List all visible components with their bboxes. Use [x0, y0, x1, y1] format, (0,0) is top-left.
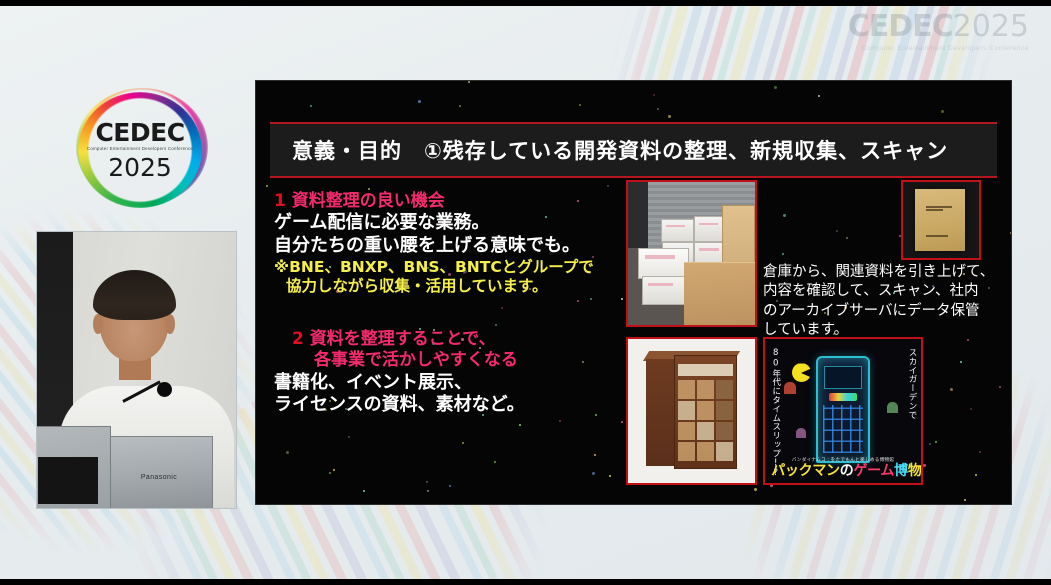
cabinet-screen — [824, 366, 861, 389]
star-speck — [449, 485, 451, 487]
document-sheet — [915, 189, 965, 251]
slide-body-text: 1 資料整理の良い機会 ゲーム配信に必要な業務。 自分たちの重い腰を上げる意味で… — [274, 191, 629, 423]
title-rule-bottom — [270, 176, 997, 178]
cedec-watermark-logo: CEDEC2025 Computer Entertainment Develop… — [848, 12, 1029, 52]
star-speck — [310, 105, 312, 107]
star-speck — [592, 472, 595, 475]
star-speck — [286, 451, 289, 454]
star-speck — [418, 100, 421, 103]
cabinet-maze-art — [823, 405, 862, 452]
text-block-2: 2 資料を整理することで、 各事業で活かしやすくなる 書籍化、イベント展示、 ラ… — [274, 329, 629, 417]
star-speck — [579, 104, 581, 106]
slide-title: 意義・目的 ①残存している開発資料の整理、新規収集、スキャン — [270, 124, 997, 176]
star-speck — [1010, 232, 1012, 234]
speaker-ear-right — [165, 314, 175, 334]
block-2-heading: 資料を整理することで、 — [310, 329, 496, 349]
poster-title-part-6: 館 — [922, 463, 923, 479]
star-speck — [459, 105, 461, 107]
star-speck — [363, 490, 365, 492]
star-speck — [594, 454, 596, 456]
star-speck — [426, 481, 428, 483]
caption-line-3: のアーカイブサーバにデータ保管 — [763, 302, 1011, 321]
star-speck — [368, 188, 370, 190]
poster-title: パックマンのゲーム博物館 — [771, 464, 915, 479]
star-speck — [468, 81, 470, 83]
cedec-ring-logo: CEDEC Computer Entertainment Developers … — [78, 92, 202, 208]
box-front-face — [674, 355, 738, 469]
laptop-front: Panasonic — [105, 436, 213, 508]
storage-box — [642, 276, 685, 305]
star-speck — [774, 86, 777, 89]
caption-line-1: 倉庫から、関連資料を引き上げて、 — [763, 263, 1011, 282]
microphone-icon — [157, 382, 172, 397]
star-speck — [329, 472, 331, 474]
storage-box-tan — [722, 205, 755, 271]
star-speck — [333, 469, 335, 471]
block-1-note-2: 協力しながら収集・活用しています。 — [274, 277, 629, 297]
star-speck — [979, 451, 981, 453]
watermark-year: 2025 — [953, 9, 1029, 44]
logo-year: 2025 — [108, 155, 172, 180]
text-block-1: 1 資料整理の良い機会 ゲーム配信に必要な業務。 自分たちの重い腰を上げる意味で… — [274, 191, 629, 297]
photo-pacman-museum-poster: 80年代にタイムスリップ!? スカイガーデンで バンダイナムコ : をたでもんと… — [763, 337, 923, 485]
star-speck — [818, 95, 820, 97]
star-speck — [960, 361, 962, 363]
block-2-heading-row: 2 資料を整理することで、 — [274, 329, 629, 350]
star-speck — [348, 436, 350, 438]
arcade-cabinet-illustration — [816, 356, 869, 463]
star-speck — [657, 108, 659, 110]
letterbox-bar-top — [0, 0, 1051, 6]
poster-title-part-4: 博 — [894, 463, 908, 479]
caption-line-2: 内容を確認して、スキャン、社内 — [763, 282, 1011, 301]
block-2-line-1: 書籍化、イベント展示、 — [274, 372, 629, 395]
block-1-line-1: ゲーム配信に必要な業務。 — [274, 212, 629, 235]
star-speck — [975, 474, 977, 476]
block-2-line-2: ライセンスの資料、素材など。 — [274, 394, 629, 417]
star-speck — [783, 214, 786, 217]
poster-title-part-3: ゲーム — [853, 463, 894, 479]
block-1-heading: 資料整理の良い機会 — [292, 191, 445, 211]
poster-title-part-2: の — [840, 463, 854, 479]
laptop-brand-label: Panasonic — [141, 474, 177, 481]
box-cover-art — [678, 380, 733, 460]
slide-canvas: 意義・目的 ①残存している開発資料の整理、新規収集、スキャン 1 資料整理の良い… — [255, 80, 1012, 505]
poster-vertical-text-right: スカイガーデンで — [906, 348, 916, 419]
star-speck — [668, 115, 671, 118]
presentation-stage: CEDEC2025 Computer Entertainment Develop… — [0, 0, 1051, 585]
star-speck — [462, 442, 464, 444]
star-speck — [929, 443, 931, 445]
photo-document-folder — [901, 180, 981, 260]
block-1-line-2: 自分たちの重い腰を上げる意味でも。 — [274, 235, 629, 258]
ghost-icon-red — [784, 382, 796, 394]
star-speck — [836, 230, 838, 232]
photo-desk — [684, 262, 755, 325]
logo-subtitle: Computer Entertainment Developers Confer… — [87, 147, 193, 151]
speaker-video-feed[interactable]: Panasonic — [36, 231, 237, 509]
photo-caption: 倉庫から、関連資料を引き上げて、 内容を確認して、スキャン、社内 のアーカイブサ… — [763, 263, 1011, 341]
box-spine — [646, 359, 675, 466]
star-speck — [846, 237, 848, 239]
cabinet-control-panel — [829, 393, 856, 401]
box-cover-title-band — [678, 364, 732, 376]
block-2-heading-2: 各事業で活かしやすくなる — [274, 350, 629, 371]
photo-storage-boxes — [626, 180, 757, 327]
star-speck — [653, 94, 655, 96]
star-speck — [964, 499, 966, 501]
star-speck — [427, 490, 429, 492]
block-1-heading-row: 1 資料整理の良い機会 — [274, 191, 629, 212]
laptop-screen — [38, 457, 98, 504]
star-speck — [519, 424, 521, 426]
star-speck — [607, 185, 609, 187]
storage-box — [661, 219, 694, 242]
block-1-number: 1 — [274, 191, 286, 211]
star-speck — [609, 475, 611, 477]
star-speck — [494, 461, 496, 463]
star-speck — [941, 110, 944, 113]
poster-title-group: バンダイナムコ : をたでもんと楽しめる博物館 パックマンのゲーム博物館 — [771, 457, 915, 479]
poster-title-part-5: 物 — [908, 463, 922, 479]
speaker-ear-left — [93, 314, 103, 334]
star-speck — [950, 388, 953, 391]
star-speck — [970, 408, 972, 410]
photo-book-boxset — [626, 337, 757, 485]
block-1-note-1: ※BNE、BNXP、BNS、BNTCとグループで — [274, 258, 629, 278]
watermark-brand: CEDEC — [848, 9, 953, 44]
block-2-number: 2 — [292, 329, 304, 349]
block-spacer — [274, 303, 629, 329]
logo-text-group: CEDEC Computer Entertainment Developers … — [78, 92, 202, 208]
ghost-icon-purple — [796, 428, 806, 438]
star-speck — [754, 488, 757, 491]
letterbox-bar-bottom — [0, 579, 1051, 585]
star-speck — [782, 253, 784, 255]
logo-brand: CEDEC — [95, 120, 184, 145]
storage-box-lid — [638, 248, 689, 279]
star-speck — [266, 185, 268, 187]
poster-title-part-1: パックマン — [771, 463, 840, 479]
watermark-subtitle: Computer Entertainment Developers Confer… — [848, 45, 1029, 52]
star-speck — [935, 441, 937, 443]
ghost-icon-green — [887, 402, 898, 413]
laptop-side — [36, 426, 111, 508]
pacman-icon — [792, 363, 811, 382]
star-speck — [999, 386, 1001, 388]
